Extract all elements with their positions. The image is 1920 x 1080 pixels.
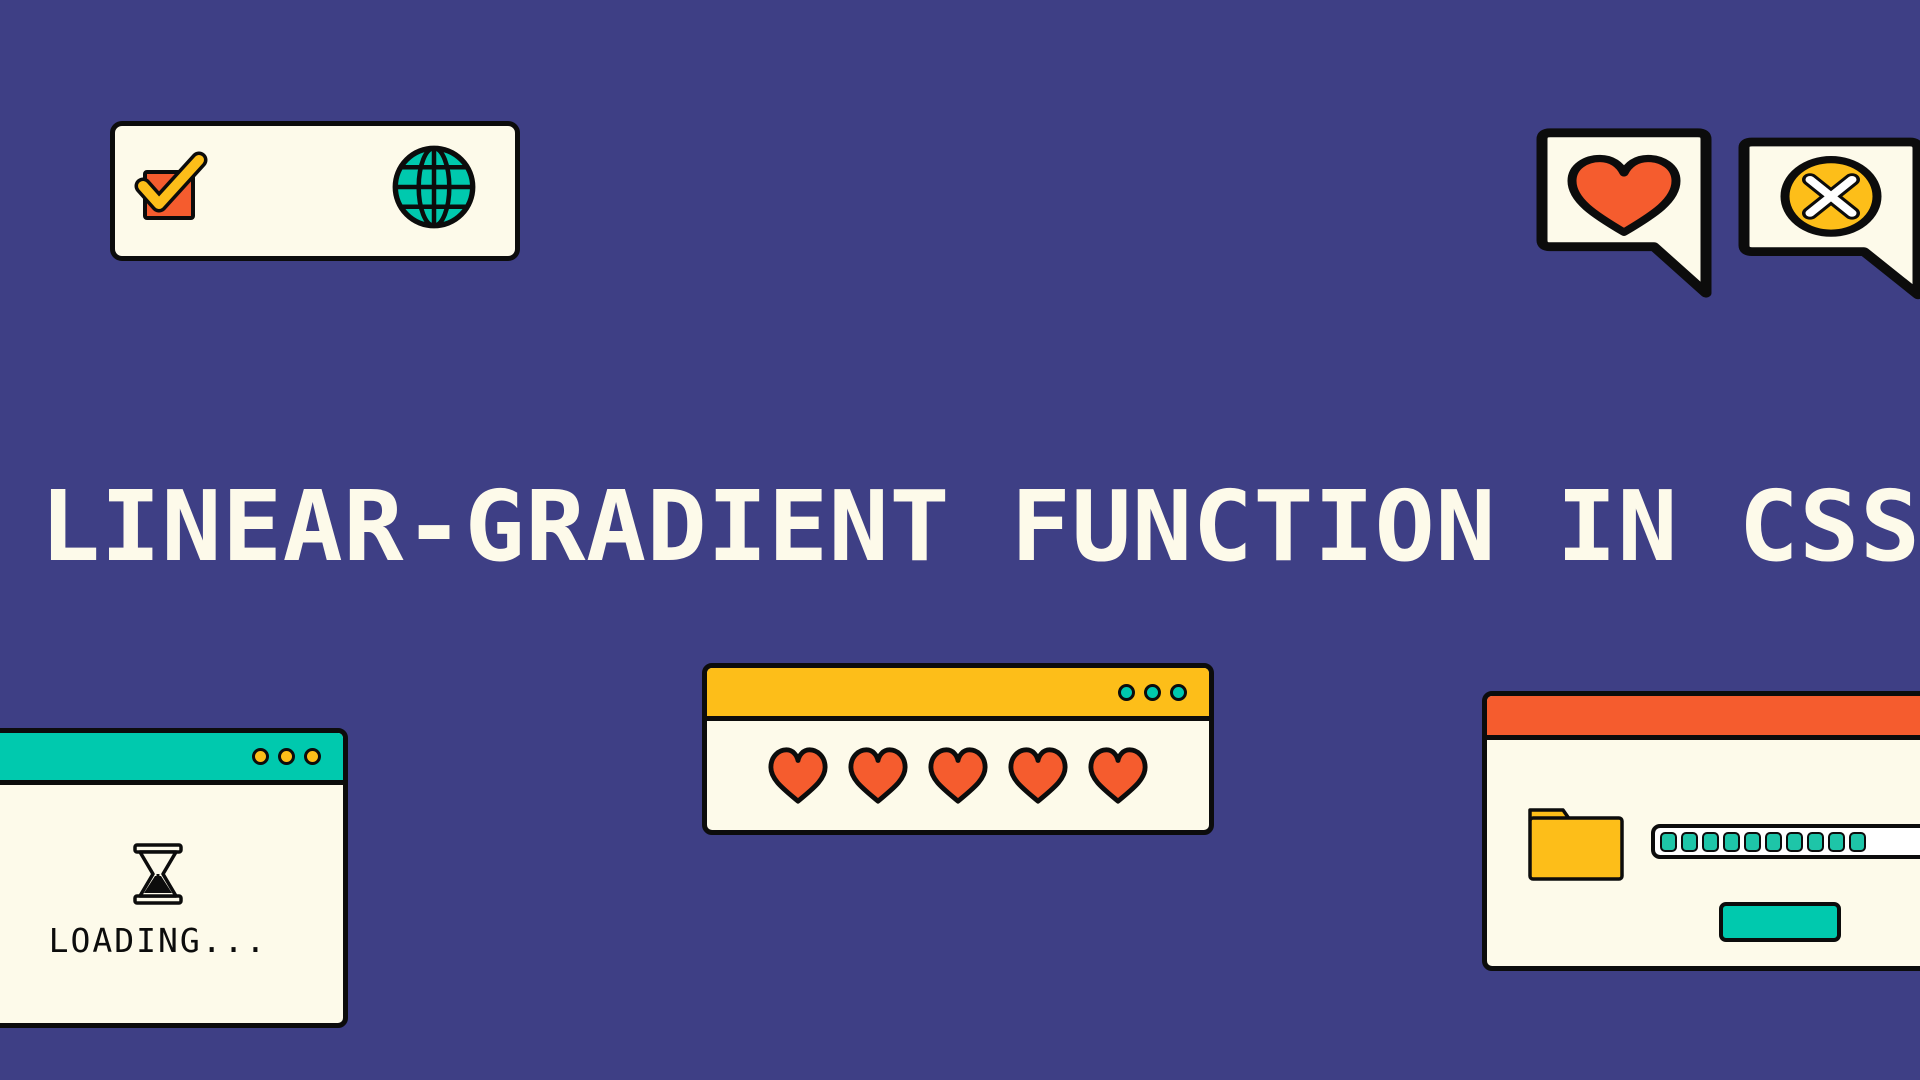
window-dot-3[interactable] xyxy=(304,748,321,765)
toolbar-window-content xyxy=(115,126,515,256)
close-speech-bubble[interactable] xyxy=(1738,138,1920,298)
window-dot-3[interactable] xyxy=(1170,684,1187,701)
window-dot-1[interactable] xyxy=(252,748,269,765)
loading-titlebar-inner xyxy=(0,733,343,785)
heart-icon xyxy=(1004,745,1072,807)
files-window-body xyxy=(1487,740,1920,966)
heart-icon xyxy=(924,745,992,807)
heart-icon xyxy=(844,745,912,807)
check-mark-stroke xyxy=(133,146,211,224)
loading-window-titlebar[interactable] xyxy=(0,733,343,785)
hearts-window-titlebar[interactable] xyxy=(707,668,1209,721)
progress-bar[interactable] xyxy=(1651,824,1920,859)
toolbar-window[interactable] xyxy=(110,121,520,261)
hourglass-icon xyxy=(131,843,185,905)
files-window[interactable] xyxy=(1482,691,1920,971)
window-controls[interactable] xyxy=(252,748,321,765)
heart-speech-bubble[interactable] xyxy=(1534,128,1714,298)
close-bubble-shape xyxy=(1738,138,1920,298)
files-window-titlebar[interactable] xyxy=(1487,696,1920,740)
loading-window[interactable]: LOADING... xyxy=(0,728,348,1028)
loading-window-body: LOADING... xyxy=(0,785,343,1023)
window-dot-2[interactable] xyxy=(278,748,295,765)
progress-segment xyxy=(1723,832,1740,852)
heart-bubble-shape xyxy=(1534,128,1714,298)
window-controls[interactable] xyxy=(1118,684,1187,701)
progress-segment xyxy=(1849,832,1866,852)
progress-segment xyxy=(1807,832,1824,852)
progress-segment xyxy=(1681,832,1698,852)
window-dot-2[interactable] xyxy=(1144,684,1161,701)
hearts-row xyxy=(707,721,1209,830)
loading-status-text: LOADING... xyxy=(49,921,268,960)
heart-icon xyxy=(764,745,832,807)
check-mark-icon[interactable] xyxy=(137,156,199,218)
folder-icon[interactable] xyxy=(1527,807,1625,882)
progress-segment xyxy=(1765,832,1782,852)
poster-canvas: LINEAR-GRADIENT FUNCTION IN CSS LOADING.… xyxy=(0,0,1920,1080)
heart-icon xyxy=(1084,745,1152,807)
progress-segment xyxy=(1744,832,1761,852)
progress-segment xyxy=(1660,832,1677,852)
progress-segment xyxy=(1828,832,1845,852)
action-button[interactable] xyxy=(1719,902,1841,942)
progress-segment xyxy=(1786,832,1803,852)
hearts-titlebar-inner xyxy=(707,668,1209,721)
page-title: LINEAR-GRADIENT FUNCTION IN CSS xyxy=(40,478,1920,575)
files-titlebar-inner xyxy=(1487,696,1920,740)
progress-segment xyxy=(1702,832,1719,852)
globe-icon[interactable] xyxy=(389,142,479,232)
hearts-window[interactable] xyxy=(702,663,1214,835)
window-dot-1[interactable] xyxy=(1118,684,1135,701)
